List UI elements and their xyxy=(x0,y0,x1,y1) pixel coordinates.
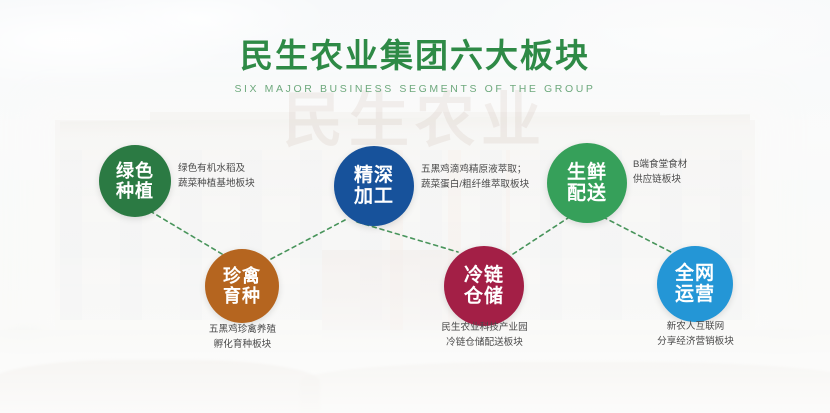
connector-5-6 xyxy=(603,217,671,252)
segment-title-line2: 配送 xyxy=(567,183,607,204)
connector-3-4 xyxy=(357,222,458,252)
infographic-canvas: 民生农业 民生农业集团六大板块 SIX MAJOR BUSINESS SEGME… xyxy=(0,0,830,413)
connector-1-2 xyxy=(150,211,222,254)
segment-desc-line2: 分享经济营销板块 xyxy=(607,335,784,350)
segment-title-line2: 运营 xyxy=(675,284,715,305)
segment-desc-line2: 蔬菜种植基地板块 xyxy=(178,177,255,192)
segment-description-rare-fowl-breeding: 五黑鸡珍禽养殖 孵化育种板块 xyxy=(155,323,330,353)
segment-title-line2: 种植 xyxy=(116,181,154,201)
segment-description-omni-channel-operation: 新农人互联网 分享经济营销板块 xyxy=(607,320,784,350)
segment-description-green-planting: 绿色有机水稻及 蔬菜种植基地板块 xyxy=(178,162,255,192)
segment-description-fresh-delivery: B端食堂食材 供应链板块 xyxy=(633,158,687,188)
segment-desc-line2: 冷链仓储配送板块 xyxy=(396,336,573,351)
segment-desc-line1: 绿色有机水稻及 xyxy=(178,162,255,177)
segment-desc-line2: 供应链板块 xyxy=(633,173,687,188)
segment-bubble-rare-fowl-breeding[interactable]: 珍禽 育种 xyxy=(205,249,279,323)
segment-bubble-green-planting[interactable]: 绿色 种植 xyxy=(99,145,171,217)
segment-title-line1: 全网 xyxy=(675,263,715,284)
segment-desc-line1: 民生农业科技产业园 xyxy=(396,321,573,336)
segment-title-line1: 冷链 xyxy=(464,265,504,286)
segment-desc-line2: 孵化育种板块 xyxy=(155,338,330,353)
segment-bubble-cold-chain-storage[interactable]: 冷链 仓储 xyxy=(444,246,524,326)
segment-desc-line1: B端食堂食材 xyxy=(633,158,687,173)
segment-desc-line1: 五黑鸡珍禽养殖 xyxy=(155,323,330,338)
segment-desc-line1: 新农人互联网 xyxy=(607,320,784,335)
segment-bubble-omni-channel-operation[interactable]: 全网 运营 xyxy=(657,246,733,322)
segment-title-line2: 仓储 xyxy=(464,286,504,307)
segment-desc-line2: 蔬菜蛋白/粗纤维萃取板块 xyxy=(421,178,529,193)
segment-title-line1: 绿色 xyxy=(116,161,154,181)
segment-bubble-deep-processing[interactable]: 精深 加工 xyxy=(334,146,414,226)
segment-title-line2: 加工 xyxy=(354,186,394,207)
segment-bubble-fresh-delivery[interactable]: 生鲜 配送 xyxy=(547,143,627,223)
connector-2-3 xyxy=(271,220,345,259)
segment-description-deep-processing: 五黑鸡滴鸡精原液萃取； 蔬菜蛋白/粗纤维萃取板块 xyxy=(421,163,529,193)
segment-title-line2: 育种 xyxy=(223,286,261,306)
segment-title-line1: 生鲜 xyxy=(567,162,607,183)
segment-title-line1: 精深 xyxy=(354,165,394,186)
segment-title-line1: 珍禽 xyxy=(223,266,261,286)
segment-desc-line1: 五黑鸡滴鸡精原液萃取； xyxy=(421,163,529,178)
connector-4-5 xyxy=(513,218,568,254)
segment-description-cold-chain-storage: 民生农业科技产业园 冷链仓储配送板块 xyxy=(396,321,573,351)
